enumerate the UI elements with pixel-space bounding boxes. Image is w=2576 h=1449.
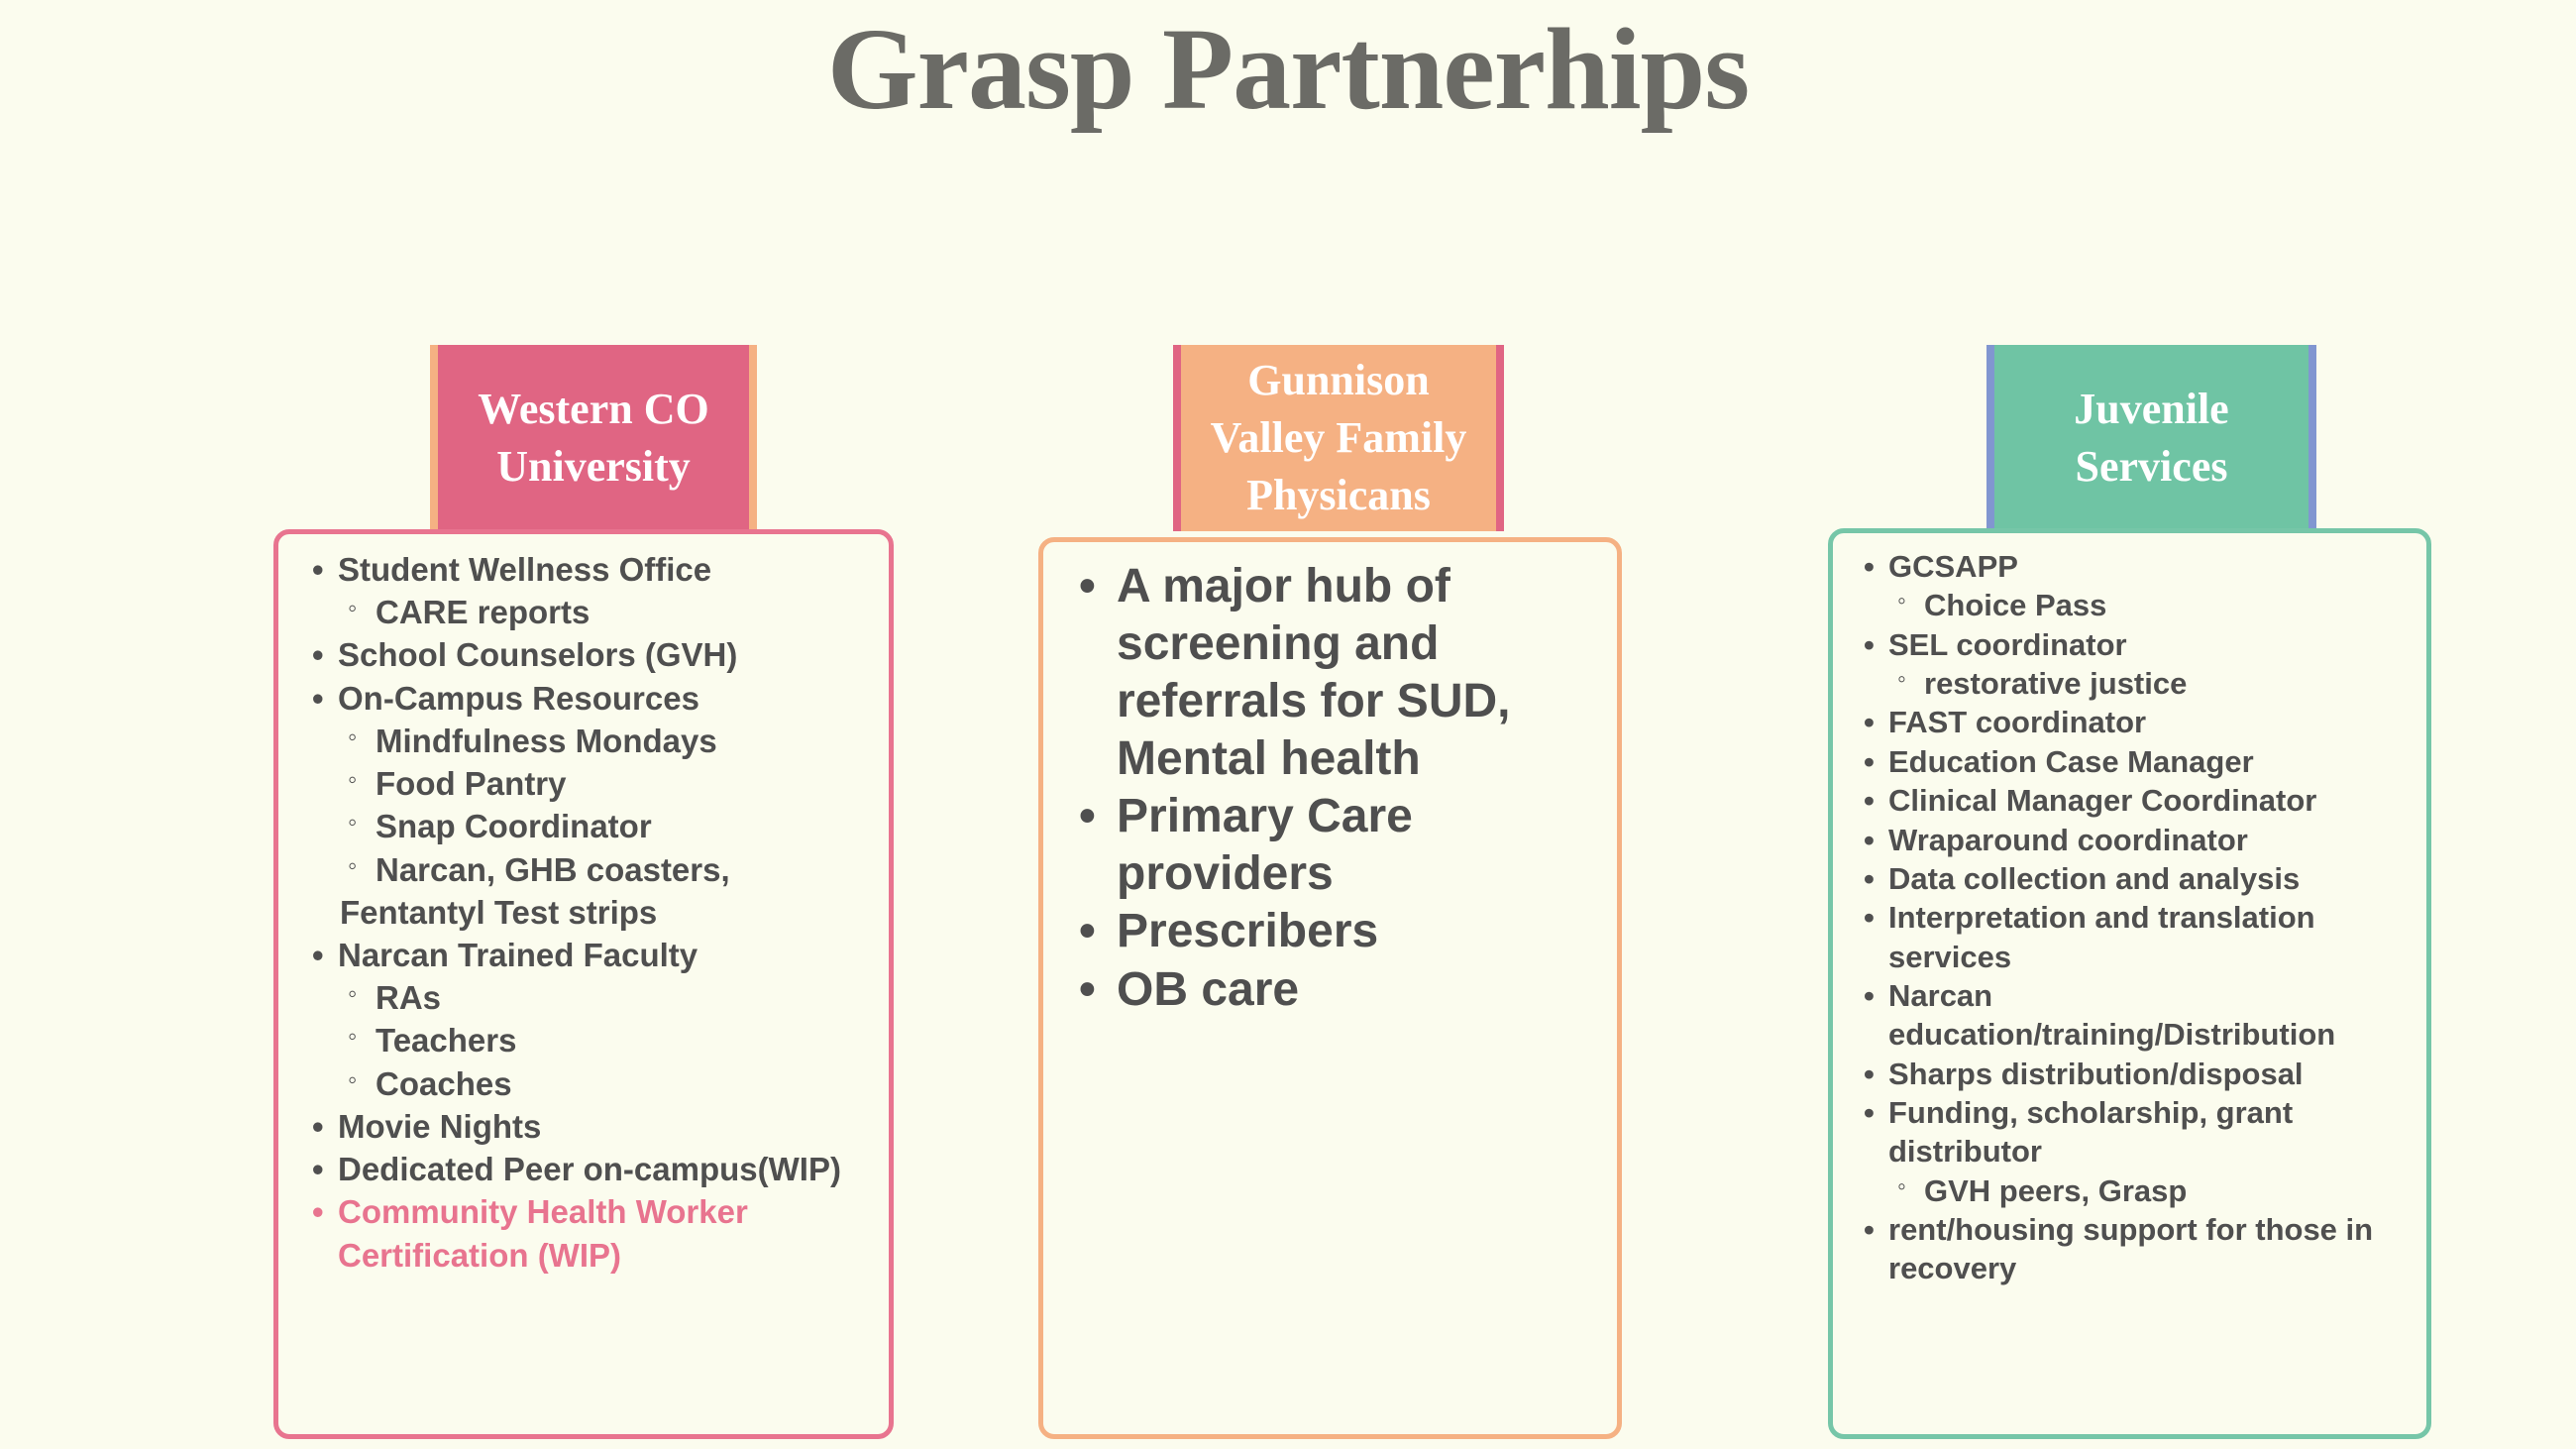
list-item-label: Coaches [340, 1065, 512, 1102]
list-item-label: Education Case Manager [1855, 742, 2418, 781]
column-header-label-1: Western CO University [438, 381, 749, 496]
list-item: Prescribers [1067, 903, 1605, 960]
list-item: Narcan education/training/Distribution [1855, 976, 2418, 1055]
slide-canvas: Grasp Partnerhips Western CO University … [0, 0, 2576, 1449]
sub-list-item: Food Pantry [340, 762, 879, 805]
list-item: Narcan Trained FacultyRAsTeachersCoaches [302, 934, 879, 1105]
list-item-label: Movie Nights [302, 1105, 879, 1148]
list-item: Interpretation and translation services [1855, 898, 2418, 976]
list-item: GCSAPPChoice Pass [1855, 547, 2418, 625]
sub-list: RAsTeachersCoaches [340, 976, 879, 1105]
list-item-label: Narcan, GHB coasters, Fentantyl Test str… [340, 851, 730, 931]
list-item: rent/housing support for those in recove… [1855, 1210, 2418, 1288]
list-item-label: Narcan education/training/Distribution [1855, 976, 2418, 1055]
page-title: Grasp Partnerhips [0, 6, 2576, 132]
list-item-label: Wraparound coordinator [1855, 821, 2418, 859]
column-header-label-3: Juvenile Services [1994, 381, 2308, 496]
sub-list-item: Teachers [340, 1019, 879, 1061]
list-item-label: rent/housing support for those in recove… [1855, 1210, 2418, 1288]
list-item-label: Choice Pass [1890, 588, 2106, 622]
list-item: Sharps distribution/disposal [1855, 1055, 2418, 1093]
sub-list-item: Mindfulness Mondays [340, 720, 879, 762]
list-item: Wraparound coordinator [1855, 821, 2418, 859]
list-item-label: Teachers [340, 1022, 516, 1059]
column-body-box-2: A major hub of screening and referrals f… [1038, 537, 1622, 1439]
list-item-label: FAST coordinator [1855, 703, 2418, 741]
list-item: Community Health Worker Certification (W… [302, 1190, 879, 1276]
list-item: Clinical Manager Coordinator [1855, 781, 2418, 820]
sub-list-item: Choice Pass [1890, 586, 2418, 624]
list-item-label: Sharps distribution/disposal [1855, 1055, 2418, 1093]
sub-list-item: RAs [340, 976, 879, 1019]
list-item: Funding, scholarship, grant distributorG… [1855, 1093, 2418, 1210]
list-item-label: restorative justice [1890, 666, 2187, 701]
list-item-label: Dedicated Peer on-campus(WIP) [302, 1148, 879, 1190]
list-item: OB care [1067, 961, 1605, 1019]
sub-list-item: Coaches [340, 1062, 879, 1105]
list-item-label: Mindfulness Mondays [340, 723, 717, 759]
list-item-label: RAs [340, 979, 441, 1016]
column-body-box-1: Student Wellness OfficeCARE reportsSchoo… [273, 529, 894, 1439]
list-item-label: Student Wellness Office [302, 548, 879, 591]
list-item-label: Funding, scholarship, grant distributor [1855, 1093, 2418, 1171]
list-item-label: School Counselors (GVH) [302, 633, 879, 676]
list-item: Primary Care providers [1067, 788, 1605, 903]
list-item: SEL coordinatorrestorative justice [1855, 625, 2418, 704]
sub-list: Choice Pass [1890, 586, 2418, 624]
list-item-label: Data collection and analysis [1855, 859, 2418, 898]
list-item: Education Case Manager [1855, 742, 2418, 781]
sub-list-item: CARE reports [340, 591, 879, 633]
sub-list: GVH peers, Grasp [1890, 1171, 2418, 1210]
list-item-label: Clinical Manager Coordinator [1855, 781, 2418, 820]
list-item-label: A major hub of screening and referrals f… [1067, 558, 1605, 788]
list-item: On-Campus ResourcesMindfulness MondaysFo… [302, 677, 879, 934]
list-item: Data collection and analysis [1855, 859, 2418, 898]
partner-list-2: A major hub of screening and referrals f… [1067, 558, 1605, 1019]
list-item-label: CARE reports [340, 594, 590, 630]
list-item: FAST coordinator [1855, 703, 2418, 741]
list-item-label: Community Health Worker Certification (W… [302, 1190, 879, 1276]
list-item: Student Wellness OfficeCARE reports [302, 548, 879, 633]
list-item: Dedicated Peer on-campus(WIP) [302, 1148, 879, 1190]
list-item-label: OB care [1067, 961, 1605, 1019]
sub-list-item: restorative justice [1890, 664, 2418, 703]
list-item-label: GVH peers, Grasp [1890, 1173, 2187, 1208]
sub-list-item: Narcan, GHB coasters, Fentantyl Test str… [340, 848, 879, 934]
list-item: School Counselors (GVH) [302, 633, 879, 676]
list-item-label: Prescribers [1067, 903, 1605, 960]
sub-list: CARE reports [340, 591, 879, 633]
list-item-label: Narcan Trained Faculty [302, 934, 879, 976]
list-item-label: Food Pantry [340, 765, 567, 802]
list-item-label: SEL coordinator [1855, 625, 2418, 664]
list-item: Movie Nights [302, 1105, 879, 1148]
column-header-plaque-3: Juvenile Services [1986, 345, 2316, 531]
list-item: A major hub of screening and referrals f… [1067, 558, 1605, 788]
column-header-label-2: Gunnison Valley Family Physicans [1181, 352, 1496, 524]
sub-list: restorative justice [1890, 664, 2418, 703]
list-item-label: Interpretation and translation services [1855, 898, 2418, 976]
list-item-label: GCSAPP [1855, 547, 2418, 586]
list-item-label: On-Campus Resources [302, 677, 879, 720]
sub-list-item: GVH peers, Grasp [1890, 1171, 2418, 1210]
list-item-label: Snap Coordinator [340, 808, 652, 844]
list-item-label: Primary Care providers [1067, 788, 1605, 903]
column-body-box-3: GCSAPPChoice PassSEL coordinatorrestorat… [1828, 528, 2431, 1439]
column-header-plaque-2: Gunnison Valley Family Physicans [1173, 345, 1504, 531]
sub-list: Mindfulness MondaysFood PantrySnap Coord… [340, 720, 879, 934]
partner-list-1: Student Wellness OfficeCARE reportsSchoo… [302, 548, 879, 1277]
partner-list-3: GCSAPPChoice PassSEL coordinatorrestorat… [1855, 547, 2418, 1288]
column-header-plaque-1: Western CO University [430, 345, 757, 531]
sub-list-item: Snap Coordinator [340, 805, 879, 847]
